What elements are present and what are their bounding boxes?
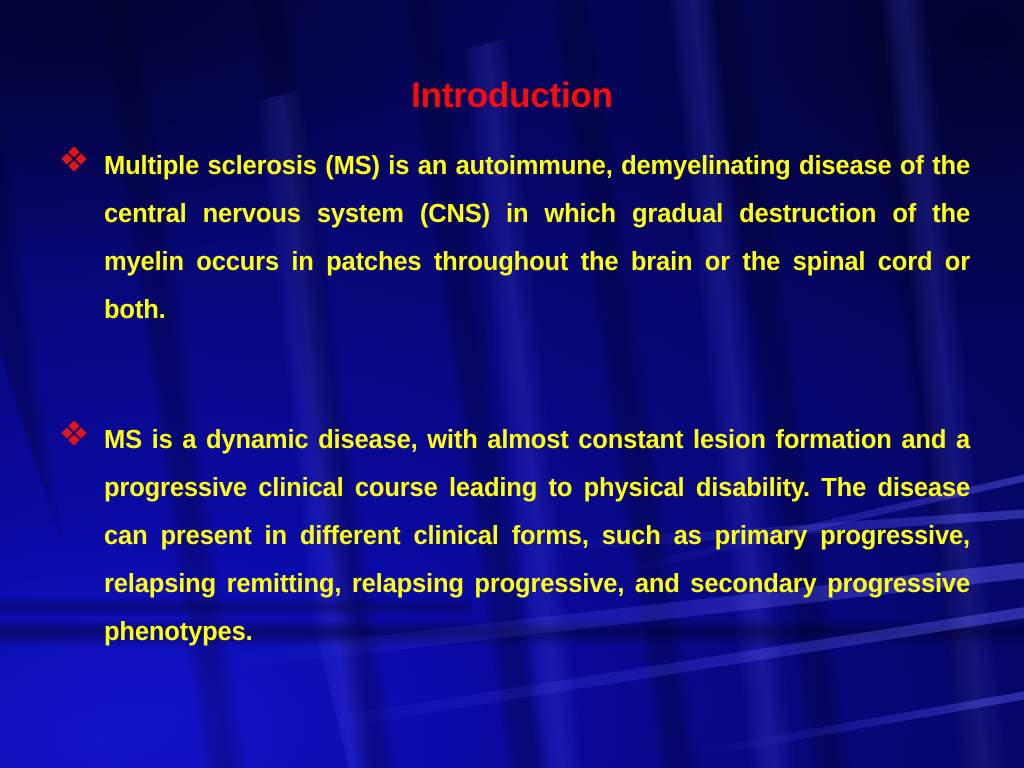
diamond-cluster-bullet-icon: [62, 422, 86, 446]
bullet-text: MS is a dynamic disease, with almost con…: [104, 416, 970, 704]
slide-title: Introduction: [0, 78, 1024, 113]
diamond-cluster-bullet-icon: [62, 148, 86, 172]
bullet-item: Multiple sclerosis (MS) is an autoimmune…: [62, 142, 970, 382]
slide-content: Introduction Multiple sclerosis (MS) is …: [0, 0, 1024, 768]
slide-body: Multiple sclerosis (MS) is an autoimmune…: [62, 142, 970, 738]
bullet-text: Multiple sclerosis (MS) is an autoimmune…: [104, 142, 970, 382]
bullet-item: MS is a dynamic disease, with almost con…: [62, 416, 970, 704]
presentation-slide: Introduction Multiple sclerosis (MS) is …: [0, 0, 1024, 768]
